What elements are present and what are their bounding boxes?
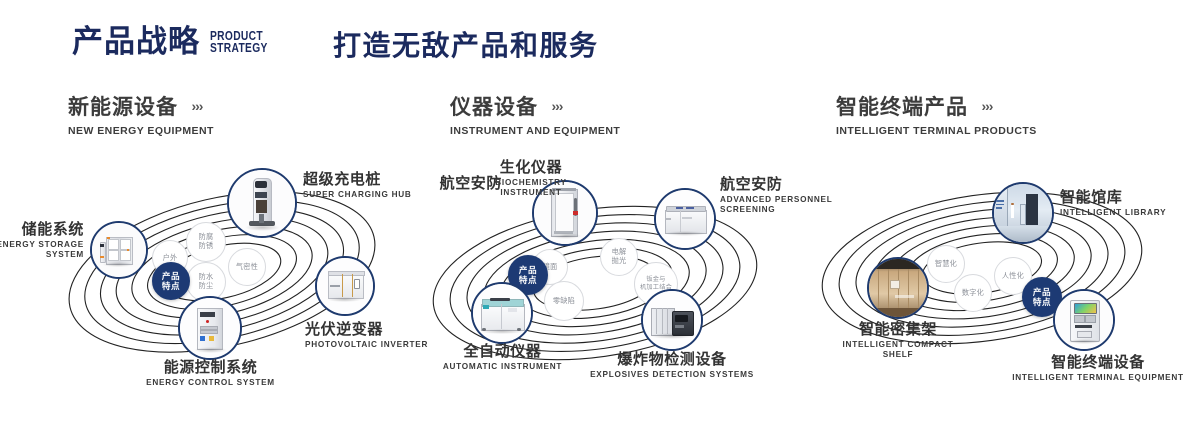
compact-shelf-photo <box>869 259 927 317</box>
core-bubble-line1: 产品 <box>1033 287 1051 297</box>
feature-bubble-label: 防水 防尘 <box>199 273 214 291</box>
page-title: 产品战略 <box>72 26 200 57</box>
node-label-cn: 超级充电桩 <box>303 172 412 188</box>
section-title-en: INTELLIGENT TERMINAL PRODUCTS <box>836 125 1037 137</box>
node-automatic-instrument[interactable] <box>471 282 533 344</box>
screening-photo <box>656 190 714 248</box>
node-intelligent-library[interactable] <box>992 182 1054 244</box>
node-advanced-personnel-screening[interactable] <box>654 188 716 250</box>
core-bubble-line1: 产品 <box>519 265 537 275</box>
page-title-en-line1: PRODUCT <box>210 30 268 43</box>
feature-bubble-label: 电解 抛光 <box>612 248 627 266</box>
node-label-cn: 能源控制系统 <box>88 360 333 376</box>
section-title-cn: 新能源设备 <box>68 97 178 118</box>
node-label-en: SUPER CHARGING HUB <box>303 190 412 201</box>
terminal-equipment-photo <box>1055 291 1113 349</box>
page-title-en-line2: STRATEGY <box>210 42 268 55</box>
automatic-instrument-photo <box>473 284 531 342</box>
node-label-cn: 智能终端设备 <box>1000 355 1196 371</box>
core-bubble-line2: 特点 <box>1033 297 1051 307</box>
node-label-intelligent-terminal-equipment: 智能终端设备 INTELLIGENT TERMINAL EQUIPMENT <box>1000 355 1196 383</box>
node-label-biochemistry-instrument: 生化仪器 BIOCHEMISTRY INSTRUMENT <box>452 160 610 199</box>
chevron-right-icon: ››› <box>981 98 992 114</box>
core-bubble-product-features: 产品 特点 <box>152 262 190 300</box>
node-label-cn: 智能馆库 <box>1060 190 1166 206</box>
node-energy-control-system[interactable] <box>178 296 242 360</box>
feature-bubble-electropolishing: 电解 抛光 <box>600 238 638 276</box>
node-intelligent-terminal-equipment[interactable] <box>1053 289 1115 351</box>
node-label-intelligent-library: 智能馆库 INTELLIGENT LIBRARY <box>1060 190 1166 218</box>
product-strategy-infographic: 产品战略 PRODUCT STRATEGY 打造无敌产品和服务 新能源设备 ››… <box>0 0 1200 422</box>
node-super-charging-hub[interactable] <box>227 168 297 238</box>
node-label-en: INTELLIGENT COMPACT SHELF <box>810 340 986 361</box>
node-label-super-charging-hub: 超级充电桩 SUPER CHARGING HUB <box>303 172 412 200</box>
section-heading-intelligent: 智能终端产品 ››› INTELLIGENT TERMINAL PRODUCTS <box>836 97 1037 137</box>
node-label-cn: 光伏逆变器 <box>305 322 428 338</box>
core-bubble-line1: 产品 <box>162 271 180 281</box>
inverter-photo <box>317 258 373 314</box>
section-title-en: INSTRUMENT AND EQUIPMENT <box>450 125 620 137</box>
node-explosives-detection-systems[interactable] <box>641 289 703 351</box>
intelligent-library-photo <box>994 184 1052 242</box>
feature-bubble-label: 智慧化 <box>935 260 957 269</box>
node-label-cn: 生化仪器 <box>452 160 610 176</box>
feature-bubble-digital: 数字化 <box>954 274 992 312</box>
section-heading-instrument: 仪器设备 ››› INSTRUMENT AND EQUIPMENT <box>450 97 620 137</box>
core-bubble-line2: 特点 <box>162 281 180 291</box>
section-title-cn: 仪器设备 <box>450 97 538 118</box>
feature-bubble-anticorrosion: 防腐 防锈 <box>186 222 226 262</box>
charging-hub-photo <box>229 170 295 236</box>
explosives-detection-photo <box>643 291 701 349</box>
section-title-en: NEW ENERGY EQUIPMENT <box>68 125 214 137</box>
node-label-advanced-personnel-screening: 航空安防 ADVANCED PERSONNEL SCREENING <box>720 177 833 216</box>
feature-bubble-label: 零缺陷 <box>553 297 575 306</box>
node-label-en: ENERGY STORAGE SYSTEM <box>0 240 84 261</box>
energy-control-photo <box>180 298 240 358</box>
feature-bubble-label: 数字化 <box>962 289 984 298</box>
page-subtitle: 打造无敌产品和服务 <box>333 32 599 60</box>
node-label-en: INTELLIGENT TERMINAL EQUIPMENT <box>1000 373 1196 384</box>
node-label-explosives-detection-systems: 爆炸物检测设备 EXPLOSIVES DETECTION SYSTEMS <box>580 352 764 380</box>
node-energy-storage-system[interactable] <box>90 221 148 279</box>
node-photovoltaic-inverter[interactable] <box>315 256 375 316</box>
section-heading-new-energy: 新能源设备 ››› NEW ENERGY EQUIPMENT <box>68 97 214 137</box>
section-title-cn: 智能终端产品 <box>836 97 968 118</box>
chevron-right-icon: ››› <box>191 98 202 114</box>
node-label-en: AUTOMATIC INSTRUMENT <box>430 362 575 373</box>
node-label-en: EXPLOSIVES DETECTION SYSTEMS <box>580 370 764 381</box>
feature-bubble-zero-defect: 零缺陷 <box>544 281 584 321</box>
node-label-cn: 航空安防 <box>720 177 833 193</box>
feature-bubble-label: 气密性 <box>236 263 258 272</box>
feature-bubble-label: 人性化 <box>1002 272 1024 281</box>
page-header: 产品战略 PRODUCT STRATEGY <box>72 26 280 57</box>
node-label-cn: 智能密集架 <box>810 322 986 338</box>
node-label-en: BIOCHEMISTRY INSTRUMENT <box>452 178 610 199</box>
node-label-intelligent-compact-shelf: 智能密集架 INTELLIGENT COMPACT SHELF <box>810 322 986 361</box>
feature-bubble-label: 防腐 防锈 <box>199 233 214 251</box>
node-label-automatic-instrument: 全自动仪器 AUTOMATIC INSTRUMENT <box>430 344 575 372</box>
node-label-energy-control-system: 能源控制系统 ENERGY CONTROL SYSTEM <box>88 360 333 388</box>
chevron-right-icon: ››› <box>551 98 562 114</box>
node-intelligent-compact-shelf[interactable] <box>867 257 929 319</box>
node-label-cn: 储能系统 <box>0 222 84 238</box>
page-title-en: PRODUCT STRATEGY <box>210 30 268 56</box>
node-label-en: ENERGY CONTROL SYSTEM <box>88 378 333 389</box>
feature-bubble-airtightness: 气密性 <box>228 248 266 286</box>
feature-bubble-smart: 智慧化 <box>927 245 965 283</box>
node-label-cn: 爆炸物检测设备 <box>580 352 764 368</box>
node-label-cn: 全自动仪器 <box>430 344 575 360</box>
node-label-en: INTELLIGENT LIBRARY <box>1060 208 1166 219</box>
energy-storage-photo <box>92 223 146 277</box>
node-label-energy-storage-system: 储能系统 ENERGY STORAGE SYSTEM <box>0 222 84 261</box>
node-label-en: ADVANCED PERSONNEL SCREENING <box>720 195 833 216</box>
node-label-en: PHOTOVOLTAIC INVERTER <box>305 340 428 351</box>
node-label-photovoltaic-inverter: 光伏逆变器 PHOTOVOLTAIC INVERTER <box>305 322 428 350</box>
